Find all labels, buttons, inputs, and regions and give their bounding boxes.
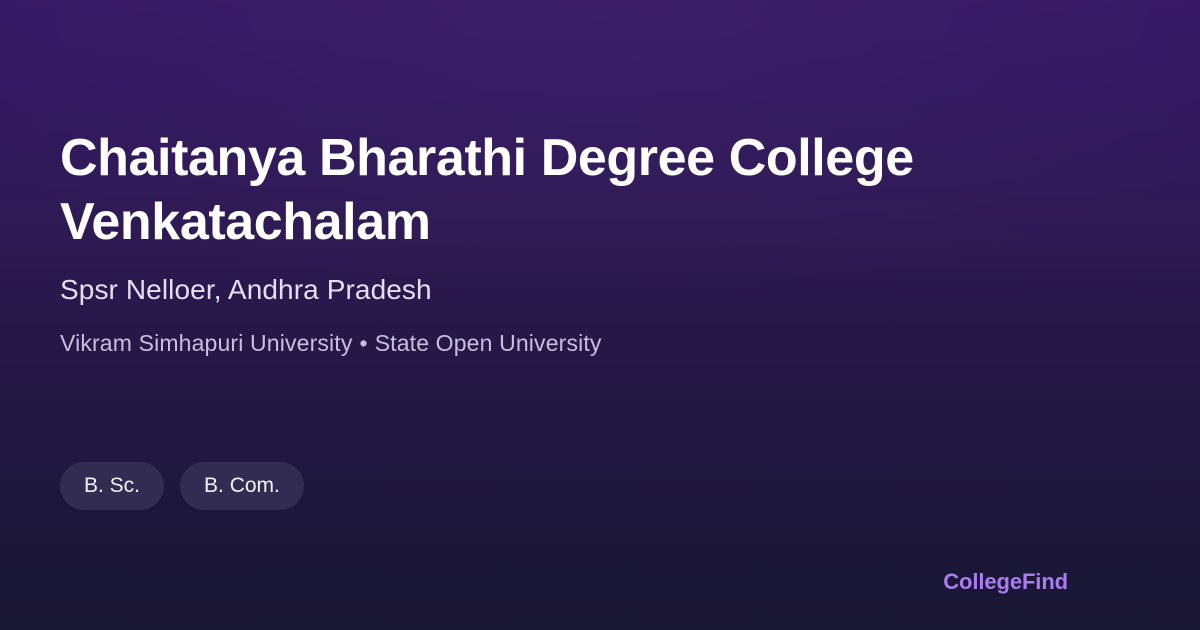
affiliation-text: Vikram Simhapuri University•State Open U… xyxy=(60,327,602,359)
brand-logo: CollegeFind xyxy=(943,568,1068,596)
bullet-separator-icon: • xyxy=(352,327,374,359)
program-badge-list: B. Sc. B. Com. xyxy=(60,462,304,510)
location-text: Spsr Nelloer, Andhra Pradesh xyxy=(60,272,432,308)
og-share-card: Chaitanya Bharathi Degree College Venkat… xyxy=(0,0,1200,630)
card-content: Chaitanya Bharathi Degree College Venkat… xyxy=(60,0,1140,630)
program-badge-bsc: B. Sc. xyxy=(60,462,164,510)
affiliation-type: State Open University xyxy=(375,330,602,356)
affiliation-university: Vikram Simhapuri University xyxy=(60,330,352,356)
program-badge-bcom: B. Com. xyxy=(180,462,304,510)
page-title: Chaitanya Bharathi Degree College Venkat… xyxy=(60,126,1045,254)
